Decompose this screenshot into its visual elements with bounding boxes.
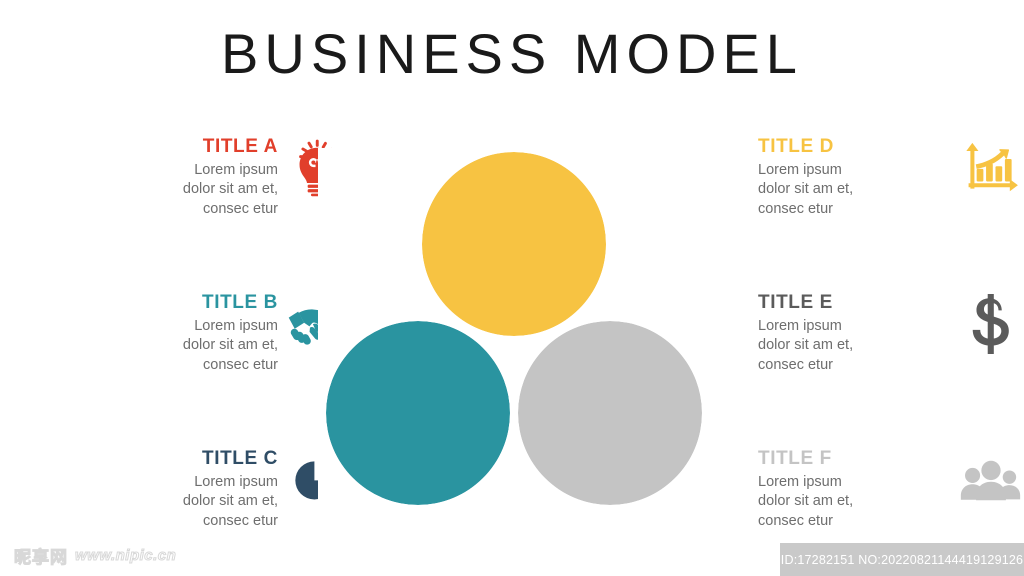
info-desc-e: Lorem ipsum dolor sit am et, consec etur [758,317,960,376]
watermark-id-bar: ID:17282151 NO:20220821144419129126 [780,543,1024,576]
info-desc-a: Lorem ipsum dolor sit am et, consec etur [78,161,278,220]
page-title: BUSINESS MODEL [0,22,1024,86]
info-block-d[interactable]: TITLE D Lorem ipsum dolor sit am et, con… [752,134,1022,219]
info-text-c: TITLE C Lorem ipsum dolor sit am et, con… [78,446,286,531]
info-block-b[interactable]: TITLE B Lorem ipsum dolor sit am et, con… [78,290,348,375]
info-title-b: TITLE B [78,291,278,315]
info-title-a: TITLE A [78,135,278,159]
info-text-a: TITLE A Lorem ipsum dolor sit am et, con… [78,134,286,219]
venn-final-render [318,148,708,514]
info-title-c: TITLE C [78,447,278,471]
info-text-b: TITLE B Lorem ipsum dolor sit am et, con… [78,290,286,375]
info-text-e: TITLE E Lorem ipsum dolor sit am et, con… [752,290,960,375]
info-text-f: TITLE F Lorem ipsum dolor sit am et, con… [752,446,960,531]
watermark-url: www.nipic.cn [75,547,176,564]
dollar-sign-icon [960,290,1022,358]
venn-diagram [318,148,708,514]
info-desc-b: Lorem ipsum dolor sit am et, consec etur [78,317,278,376]
info-title-f: TITLE F [758,447,960,471]
info-block-f[interactable]: TITLE F Lorem ipsum dolor sit am et, con… [752,446,1022,531]
infographic-canvas: BUSINESS MODEL TITLE A Lorem ipsum dolor… [0,0,1024,576]
info-desc-d: Lorem ipsum dolor sit am et, consec etur [758,161,960,220]
watermark-id-text: ID:17282151 NO:20220821144419129126 [781,553,1023,567]
info-block-e[interactable]: TITLE E Lorem ipsum dolor sit am et, con… [752,290,1022,375]
watermark-brand: 昵享网 [14,543,68,568]
bar-chart-growth-icon [960,134,1022,202]
people-group-icon [960,446,1022,514]
watermark-left: 昵享网 www.nipic.cn [14,543,176,568]
info-title-e: TITLE E [758,291,960,315]
info-block-a[interactable]: TITLE A Lorem ipsum dolor sit am et, con… [78,134,348,219]
info-text-d: TITLE D Lorem ipsum dolor sit am et, con… [752,134,960,219]
info-desc-c: Lorem ipsum dolor sit am et, consec etur [78,473,278,532]
info-block-c[interactable]: TITLE C Lorem ipsum dolor sit am et, con… [78,446,348,531]
info-title-d: TITLE D [758,135,960,159]
info-desc-f: Lorem ipsum dolor sit am et, consec etur [758,473,960,532]
